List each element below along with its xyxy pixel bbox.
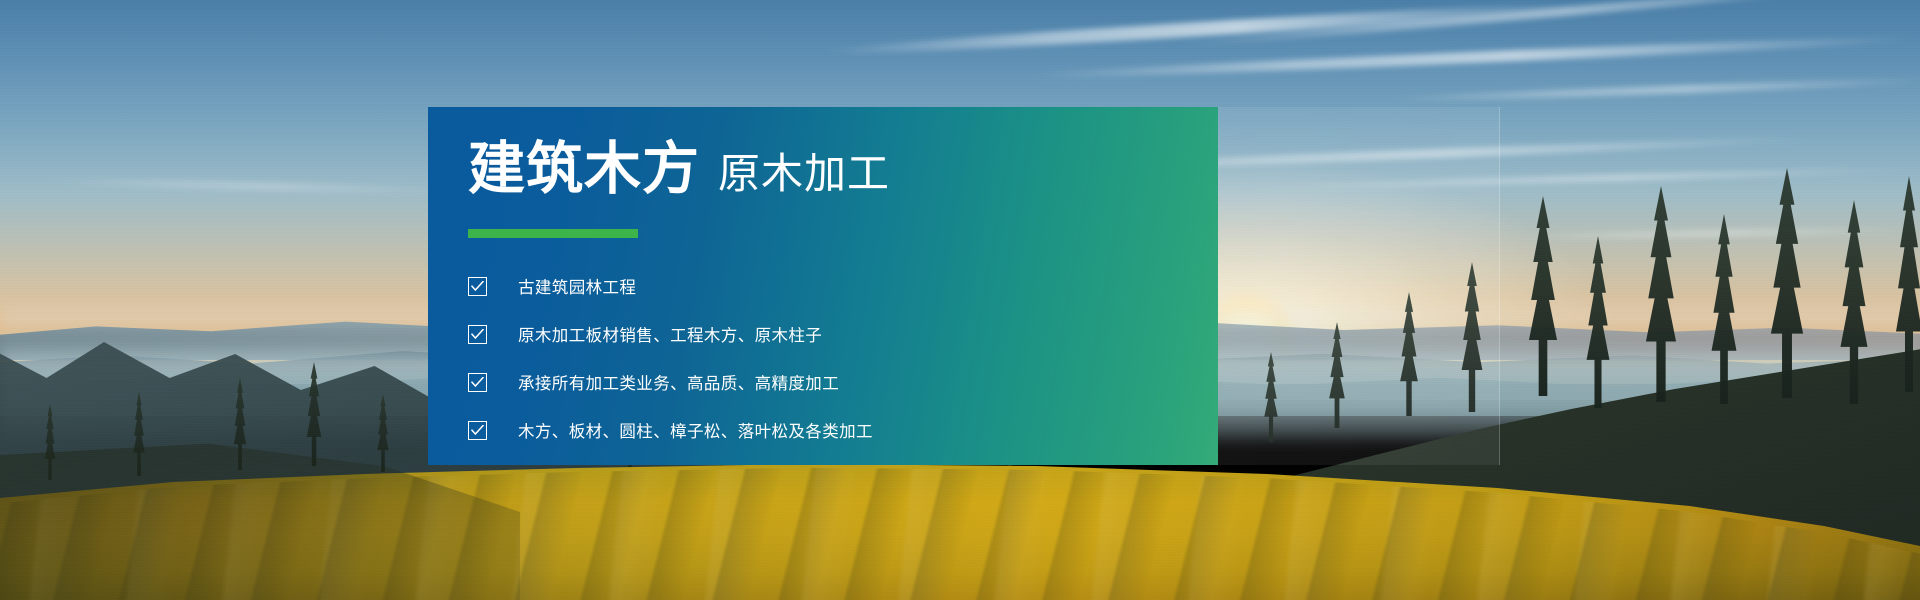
feature-list: 古建筑园林工程 原木加工板材销售、工程木方、原木柱子 [468,270,1218,446]
checkbox-checked-icon [468,325,487,344]
feature-label: 承接所有加工类业务、高品质、高精度加工 [518,370,839,394]
feature-label: 古建筑园林工程 [518,274,636,298]
page-title: 建筑木方 [468,141,700,198]
list-item: 古建筑园林工程 [468,270,1218,302]
title-row: 建筑木方 原木加工 [468,141,1218,198]
info-panel: 建筑木方 原木加工 古建筑园林工程 [428,107,1218,465]
checkbox-checked-icon [468,373,487,392]
hero-banner: 建筑木方 原木加工 古建筑园林工程 [0,0,1920,600]
checkbox-checked-icon [468,277,487,296]
accent-divider-bar [468,229,638,238]
list-item: 原木加工板材销售、工程木方、原木柱子 [468,318,1218,350]
feature-label: 木方、板材、圆柱、樟子松、落叶松及各类加工 [518,418,873,442]
list-item: 承接所有加工类业务、高品质、高精度加工 [468,366,1218,398]
list-item: 木方、板材、圆柱、樟子松、落叶松及各类加工 [468,414,1218,446]
page-subtitle: 原木加工 [718,153,890,195]
checkbox-checked-icon [468,421,487,440]
feature-label: 原木加工板材销售、工程木方、原木柱子 [518,322,822,346]
panel-content: 建筑木方 原木加工 古建筑园林工程 [468,141,1218,465]
